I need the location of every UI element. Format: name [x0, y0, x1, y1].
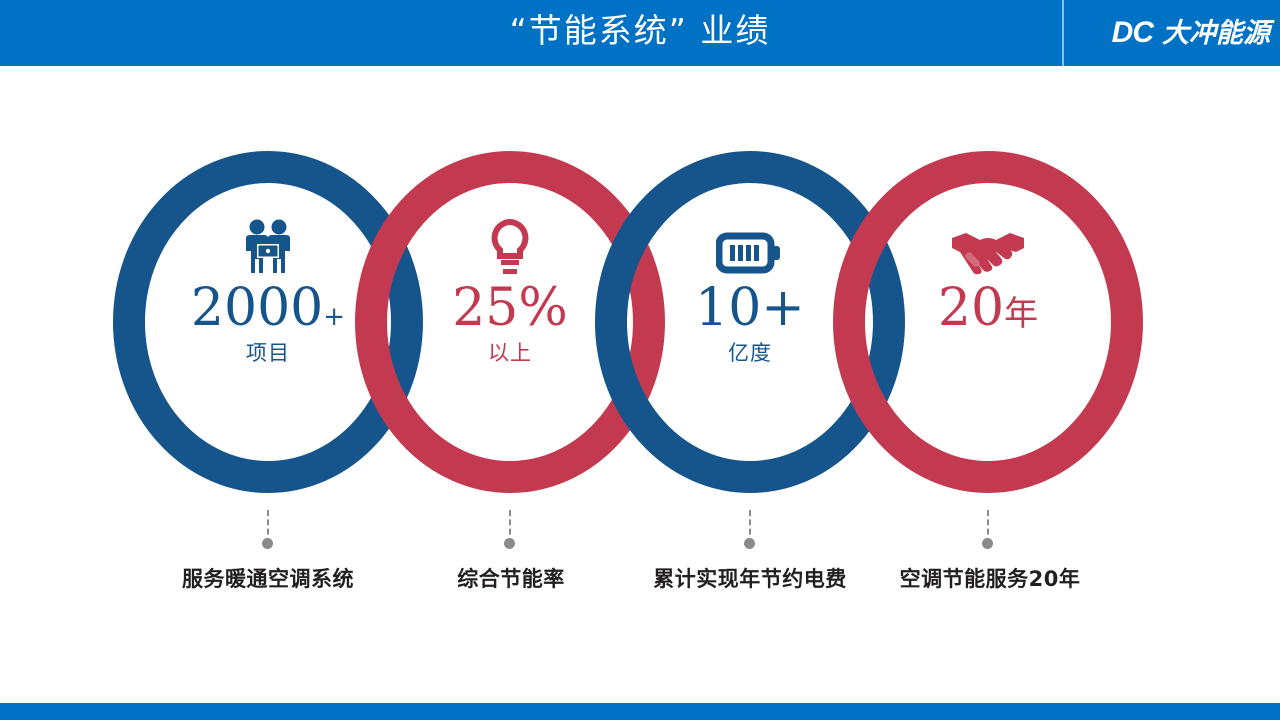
logo-divider [1062, 0, 1064, 66]
slide-canvas: “节能系统” 业绩 DC 大冲能源 [0, 0, 1280, 720]
logo-name-text: 大冲能源 [1162, 20, 1270, 47]
connector-dot-4 [982, 538, 993, 549]
rings-stage: 2000+ 项目 25% 以上 [0, 150, 1280, 510]
brand-logo: DC 大冲能源 [1112, 12, 1270, 54]
ring-label-4: 空调节能服务20年 [840, 563, 1140, 593]
footer-bar [0, 703, 1280, 720]
logo-mark-text: DC [1112, 18, 1153, 48]
connector-dot-2 [504, 538, 515, 549]
connector-dot-1 [262, 538, 273, 549]
connector-dot-3 [744, 538, 755, 549]
page-title: “节能系统” 业绩 [0, 0, 1280, 66]
interlocking-rings-graphic [0, 150, 1280, 510]
